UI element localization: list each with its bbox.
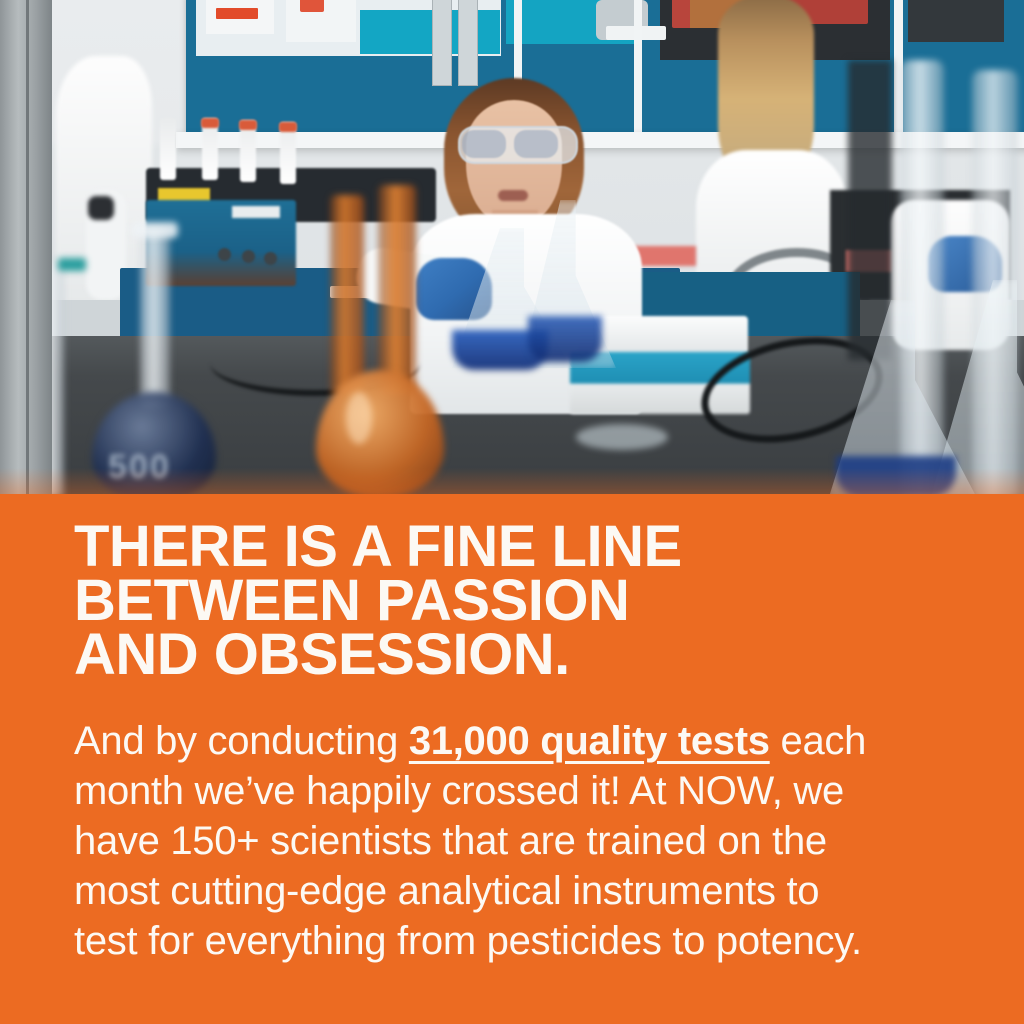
instrument-knob-1 — [218, 248, 231, 261]
test-tube-cap-4 — [279, 122, 297, 132]
amber-flask-neck-1 — [330, 195, 364, 395]
orange-text-panel: THERE IS A FINE LINE BETWEEN PASSION AND… — [0, 494, 1024, 1024]
dark-column-right — [848, 60, 892, 360]
body-line-4: most cutting-edge analytical instruments… — [74, 866, 954, 916]
cabinet-label-red-2 — [300, 0, 324, 12]
test-tube-cap-2 — [201, 118, 219, 128]
page-title: THERE IS A FINE LINE BETWEEN PASSION AND… — [74, 520, 954, 682]
background-scientist-left-hand — [88, 196, 114, 220]
amber-flask-highlight — [346, 392, 372, 444]
body-paragraph: And by conducting 31,000 quality tests e… — [74, 716, 954, 966]
headline-line-2: BETWEEN PASSION — [74, 574, 954, 628]
body-line-5: test for everything from pesticides to p… — [74, 916, 954, 966]
goggle-lens-left — [462, 130, 506, 158]
instrument-display — [232, 206, 280, 218]
blue-flask-lip — [132, 222, 178, 238]
body-line-1-suffix: each — [770, 719, 866, 763]
cabinet-bottle-1 — [432, 0, 452, 86]
blue-flask-neck — [140, 228, 170, 408]
scientist-center-mouth — [498, 190, 528, 201]
cabinet-bottle-2 — [458, 0, 478, 86]
amber-flask-neck-2 — [378, 185, 416, 395]
headline-line-1: THERE IS A FINE LINE — [74, 520, 954, 574]
body-line-3: have 150+ scientists that are trained on… — [74, 816, 954, 866]
instrument-knob-2 — [242, 250, 255, 263]
lab-photo: 500 — [0, 0, 1024, 494]
frame-post-line — [26, 0, 29, 494]
body-line-1-prefix: And by conducting — [74, 719, 409, 763]
poster: 500 THERE IS A FINE LINE BETWEEN PASSION… — [0, 0, 1024, 1024]
cabinet-teal-block-1 — [360, 10, 500, 54]
photo-bottom-fade — [0, 468, 1024, 494]
instrument-knob-3 — [264, 252, 277, 265]
teal-band-right — [58, 258, 86, 271]
stat-quality-tests: 31,000 quality tests — [409, 719, 770, 763]
cabinet-contents-dark-2 — [908, 0, 1004, 42]
goggle-lens-right — [514, 130, 558, 158]
body-line-1: And by conducting 31,000 quality tests e… — [74, 716, 954, 766]
test-tube-1 — [160, 118, 176, 180]
petri-dish — [576, 424, 668, 450]
headline-line-3: AND OBSESSION. — [74, 628, 954, 682]
body-line-2: month we’ve happily crossed it! At NOW, … — [74, 766, 954, 816]
blue-liquid-flask-2 — [528, 316, 602, 362]
cabinet-label-red-1 — [216, 8, 258, 19]
test-tube-cap-3 — [239, 120, 257, 130]
